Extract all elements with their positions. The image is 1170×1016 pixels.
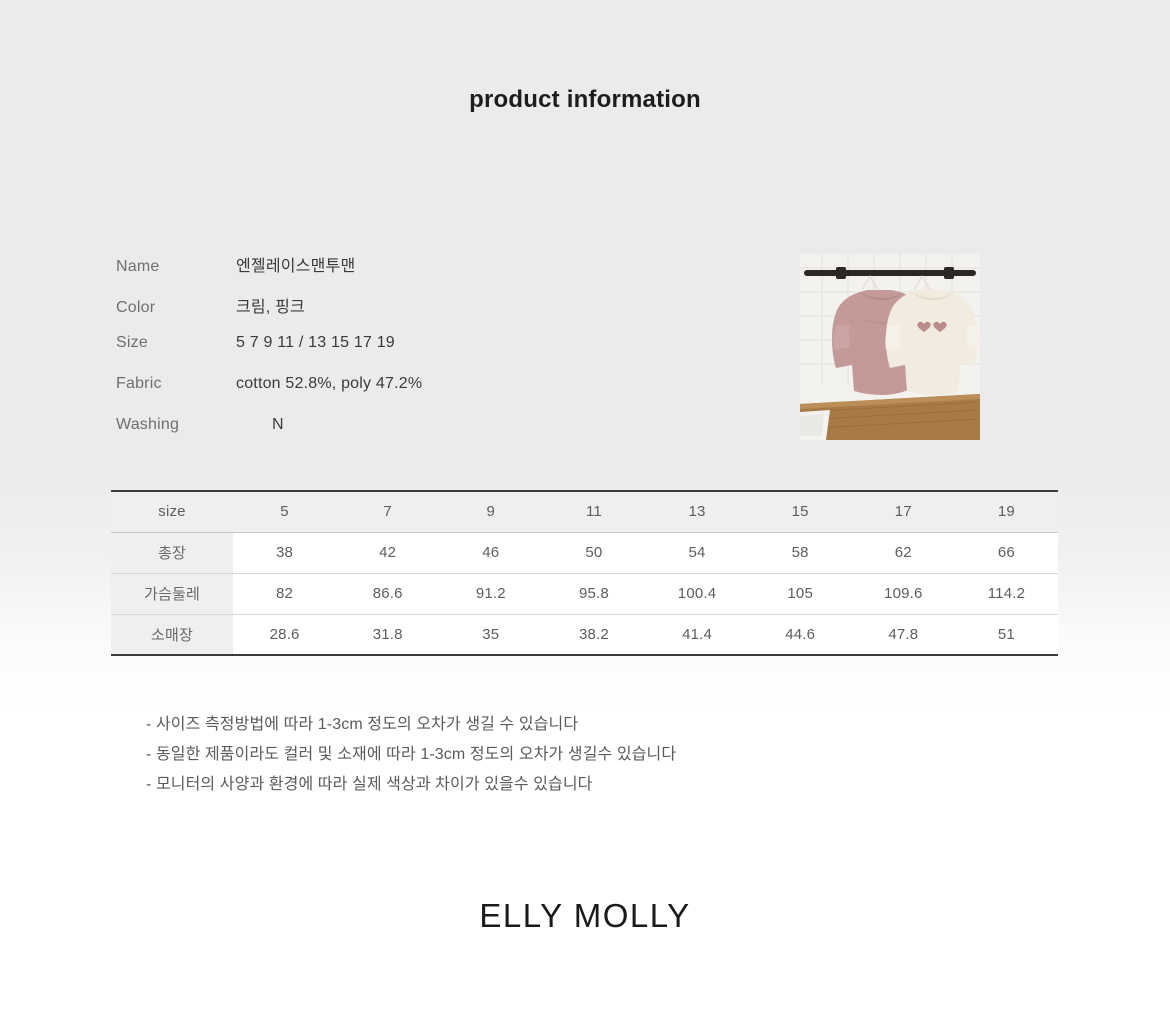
note-item: - 모니터의 사양과 환경에 따라 실제 색상과 차이가 있을수 있습니다 xyxy=(146,770,1046,800)
size-table-header-cell: 5 xyxy=(233,491,336,532)
size-table-cell: 58 xyxy=(749,532,852,573)
size-table-cell: 95.8 xyxy=(542,573,645,614)
product-photo-illustration xyxy=(800,254,980,440)
info-value-washing: N xyxy=(236,416,284,434)
info-value-name: 엔젤레이스맨투맨 xyxy=(236,252,355,276)
size-table-cell: 51 xyxy=(955,614,1058,655)
info-value-size: 5 7 9 11 / 13 15 17 19 xyxy=(236,334,395,352)
size-table-cell: 42 xyxy=(336,532,439,573)
size-table-cell: 54 xyxy=(646,532,749,573)
product-photo xyxy=(800,254,980,440)
table-row: 총장 38 42 46 50 54 58 62 66 xyxy=(111,532,1058,573)
size-table-cell: 38.2 xyxy=(542,614,645,655)
note-item: - 사이즈 측정방법에 따라 1-3cm 정도의 오차가 생길 수 있습니다 xyxy=(146,710,1046,740)
size-table-row-label: 가슴둘레 xyxy=(111,573,233,614)
size-table-cell: 41.4 xyxy=(646,614,749,655)
info-label-fabric: Fabric xyxy=(116,375,236,393)
size-table-cell: 66 xyxy=(955,532,1058,573)
info-value-fabric: cotton 52.8%, poly 47.2% xyxy=(236,375,422,393)
size-table-header-cell: 15 xyxy=(749,491,852,532)
size-table-cell: 109.6 xyxy=(852,573,955,614)
size-table-cell: 38 xyxy=(233,532,336,573)
size-table-cell: 100.4 xyxy=(646,573,749,614)
size-table-header-row: size 5 7 9 11 13 15 17 19 xyxy=(111,491,1058,532)
size-table-cell: 50 xyxy=(542,532,645,573)
size-table-cell: 82 xyxy=(233,573,336,614)
size-table-header-cell: 13 xyxy=(646,491,749,532)
disclaimer-notes: - 사이즈 측정방법에 따라 1-3cm 정도의 오차가 생길 수 있습니다 -… xyxy=(146,710,1046,800)
info-label-size: Size xyxy=(116,334,236,352)
info-row-color: Color 크림, 핑크 xyxy=(116,293,676,334)
info-row-size: Size 5 7 9 11 / 13 15 17 19 xyxy=(116,334,676,375)
info-label-name: Name xyxy=(116,258,236,276)
product-information-page: product information Name 엔젤레이스맨투맨 Color … xyxy=(0,0,1170,1016)
brand-logo-text: ELLY MOLLY xyxy=(0,897,1170,935)
size-table-header-cell: 9 xyxy=(439,491,542,532)
size-table-header-cell: 17 xyxy=(852,491,955,532)
size-table-cell: 44.6 xyxy=(749,614,852,655)
size-table-cell: 62 xyxy=(852,532,955,573)
size-table-row-label: 총장 xyxy=(111,532,233,573)
size-table-cell: 35 xyxy=(439,614,542,655)
size-table-header-cell: 11 xyxy=(542,491,645,532)
info-row-fabric: Fabric cotton 52.8%, poly 47.2% xyxy=(116,375,676,416)
info-label-color: Color xyxy=(116,299,236,317)
table-row: 소매장 28.6 31.8 35 38.2 41.4 44.6 47.8 51 xyxy=(111,614,1058,655)
size-table-cell: 28.6 xyxy=(233,614,336,655)
table-row: 가슴둘레 82 86.6 91.2 95.8 100.4 105 109.6 1… xyxy=(111,573,1058,614)
size-table-cell: 91.2 xyxy=(439,573,542,614)
info-value-color: 크림, 핑크 xyxy=(236,293,305,317)
size-table-cell: 47.8 xyxy=(852,614,955,655)
size-table-header-cell: 19 xyxy=(955,491,1058,532)
size-table-header-cell: 7 xyxy=(336,491,439,532)
size-chart-table: size 5 7 9 11 13 15 17 19 총장 38 42 46 50… xyxy=(111,490,1058,656)
page-title: product information xyxy=(0,86,1170,114)
size-table-cell: 105 xyxy=(749,573,852,614)
product-info-block: Name 엔젤레이스맨투맨 Color 크림, 핑크 Size 5 7 9 11… xyxy=(116,252,676,457)
size-table-cell: 114.2 xyxy=(955,573,1058,614)
info-row-name: Name 엔젤레이스맨투맨 xyxy=(116,252,676,293)
note-item: - 동일한 제품이라도 컬러 및 소재에 따라 1-3cm 정도의 오차가 생길… xyxy=(146,740,1046,770)
size-table-cell: 31.8 xyxy=(336,614,439,655)
info-row-washing: Washing N xyxy=(116,416,676,457)
size-table-row-label: 소매장 xyxy=(111,614,233,655)
info-label-washing: Washing xyxy=(116,416,236,434)
size-table-cell: 46 xyxy=(439,532,542,573)
size-table-header-cell: size xyxy=(111,491,233,532)
size-table-cell: 86.6 xyxy=(336,573,439,614)
